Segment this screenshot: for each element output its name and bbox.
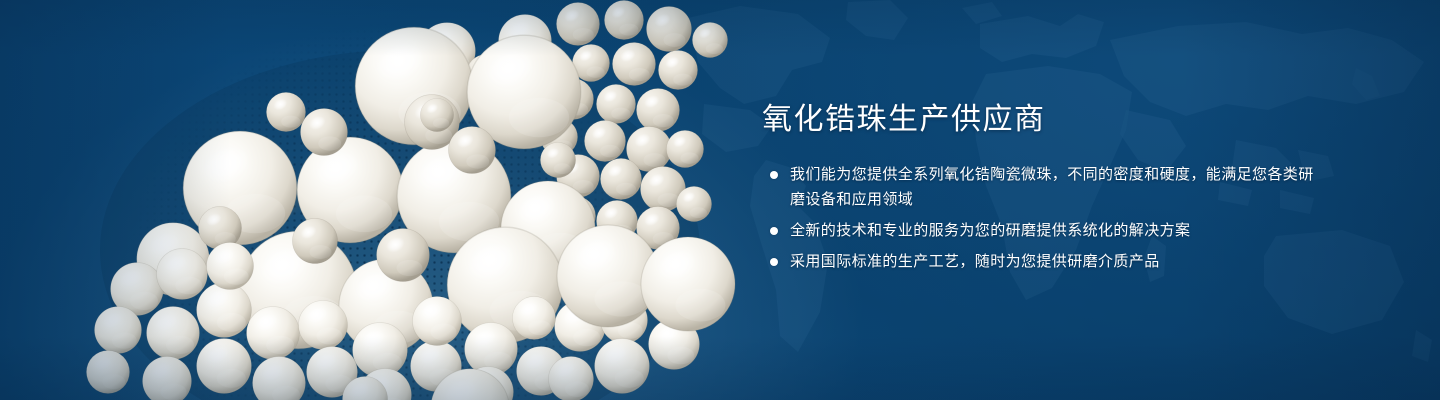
banner-headline: 氧化锆珠生产供应商 xyxy=(762,100,1322,140)
bullet-item-2-text: 全新的技术和专业的服务为您的研磨提供系统化的解决方案 xyxy=(790,218,1322,243)
bullet-item-3: 采用国际标准的生产工艺，随时为您提供研磨介质产品 xyxy=(762,249,1322,274)
bullet-item-2: 全新的技术和专业的服务为您的研磨提供系统化的解决方案 xyxy=(762,218,1322,243)
banner-bullet-list: 我们能为您提供全系列氧化锆陶瓷微珠，不同的密度和硬度，能满足您各类研磨设备和应用… xyxy=(762,162,1322,274)
hero-banner: 氧化锆珠生产供应商 我们能为您提供全系列氧化锆陶瓷微珠，不同的密度和硬度，能满足… xyxy=(0,0,1440,400)
bullet-item-3-text: 采用国际标准的生产工艺，随时为您提供研磨介质产品 xyxy=(790,249,1322,274)
bullet-item-1-text: 我们能为您提供全系列氧化锆陶瓷微珠，不同的密度和硬度，能满足您各类研磨设备和应用… xyxy=(790,162,1322,212)
bullet-dot-icon xyxy=(770,258,778,266)
bullet-dot-icon xyxy=(770,171,778,179)
banner-copy: 氧化锆珠生产供应商 我们能为您提供全系列氧化锆陶瓷微珠，不同的密度和硬度，能满足… xyxy=(762,100,1322,274)
bullet-dot-icon xyxy=(770,227,778,235)
bullet-item-1: 我们能为您提供全系列氧化锆陶瓷微珠，不同的密度和硬度，能满足您各类研磨设备和应用… xyxy=(762,162,1322,212)
